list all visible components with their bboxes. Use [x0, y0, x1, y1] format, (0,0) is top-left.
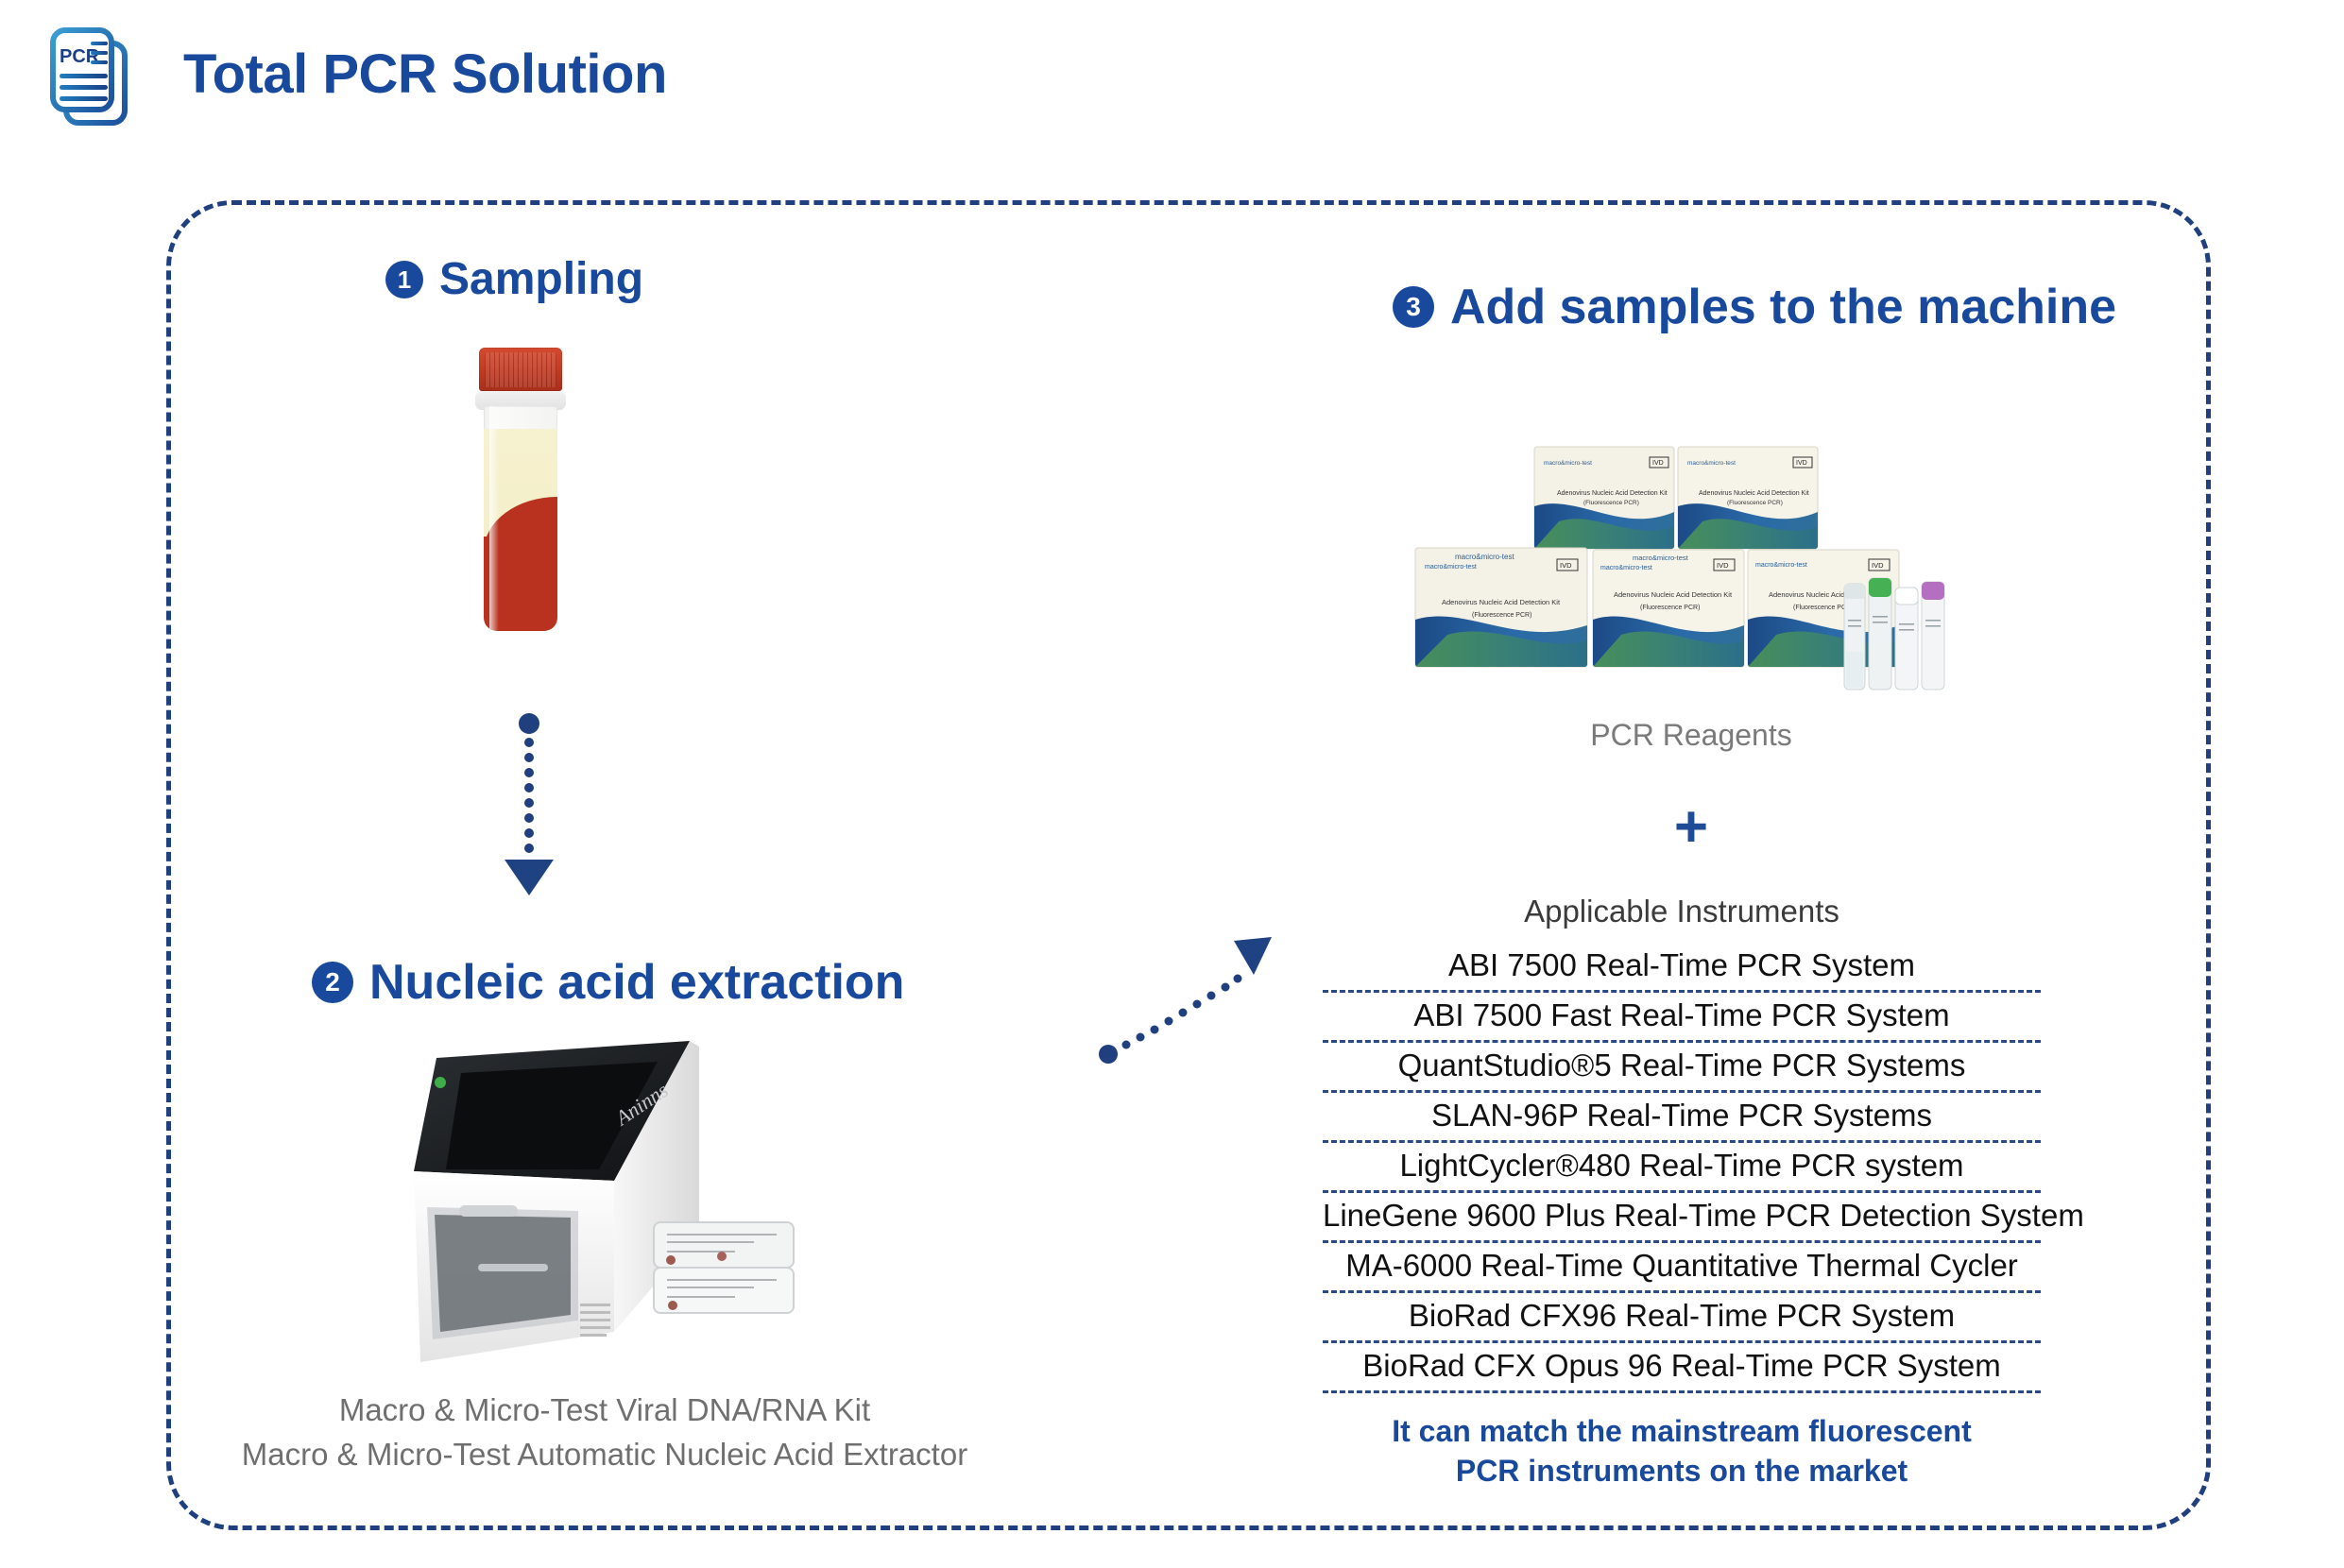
instrument-row: QuantStudio®5 Real-Time PCR Systems: [1323, 1043, 2041, 1093]
svg-text:IVD: IVD: [1560, 561, 1572, 570]
svg-text:Adenovirus Nucleic Acid Detect: Adenovirus Nucleic Acid Detection Kit: [1699, 490, 1809, 497]
tube-gloss-highlight: [489, 406, 499, 631]
instruments-note-line-2: PCR instruments on the market: [1323, 1452, 2041, 1491]
svg-text:(Fluorescence PCR): (Fluorescence PCR): [1472, 612, 1531, 619]
instrument-row: BioRad CFX96 Real-Time PCR System: [1323, 1293, 2041, 1343]
step-2-heading: 2 Nucleic acid extraction: [312, 954, 904, 1011]
instrument-row: ABI 7500 Real-Time PCR System: [1323, 943, 2041, 993]
automatic-nucleic-acid-extractor-icon: Aninns: [378, 1020, 831, 1379]
specimen-collection-tube-icon: [475, 348, 566, 631]
pcr-document-stack-icon: PCR: [38, 21, 151, 127]
instrument-row: LightCycler®480 Real-Time PCR system: [1323, 1143, 2041, 1193]
step-1-heading: 1 Sampling: [385, 253, 643, 305]
instrument-row: ABI 7500 Fast Real-Time PCR System: [1323, 993, 2041, 1043]
applicable-instruments-list: Applicable Instruments ABI 7500 Real-Tim…: [1323, 894, 2041, 1491]
svg-text:macro&micro-test: macro&micro-test: [1600, 565, 1652, 571]
instrument-row: LineGene 9600 Plus Real-Time PCR Detecti…: [1323, 1193, 2041, 1243]
page-title: Total PCR Solution: [183, 43, 667, 106]
svg-text:macro&micro-test: macro&micro-test: [1687, 460, 1736, 467]
svg-text:IVD: IVD: [1872, 561, 1884, 570]
pcr-reagent-kit-boxes-icon: macro&micro-test IVD Adenovirus Nucleic …: [1398, 416, 1984, 699]
tube-body: [484, 406, 557, 631]
step-3-heading: 3 Add samples to the machine: [1393, 279, 2116, 335]
svg-text:macro&micro-test: macro&micro-test: [1633, 554, 1689, 562]
step-2-number-badge: 2: [312, 962, 353, 1003]
step-1-label: Sampling: [439, 253, 643, 305]
step-2-label: Nucleic acid extraction: [369, 954, 904, 1011]
svg-text:macro&micro-test: macro&micro-test: [1425, 564, 1477, 571]
svg-text:Adenovirus Nucleic Acid Detect: Adenovirus Nucleic Acid Detection Kit: [1557, 490, 1668, 497]
extraction-caption-kit: Macro & Micro-Test Viral DNA/RNA Kit: [170, 1389, 1039, 1433]
instrument-row: SLAN-96P Real-Time PCR Systems: [1323, 1093, 2041, 1143]
plus-symbol: +: [1398, 798, 1984, 857]
step-3-label: Add samples to the machine: [1450, 279, 2116, 335]
instruments-title: Applicable Instruments: [1323, 894, 2041, 929]
instruments-note: It can match the mainstream fluorescent …: [1323, 1412, 2041, 1491]
svg-text:(Fluorescence PCR): (Fluorescence PCR): [1640, 605, 1700, 611]
svg-text:macro&micro-test: macro&micro-test: [1755, 562, 1807, 569]
svg-text:macro&micro-test: macro&micro-test: [1544, 460, 1592, 467]
svg-text:IVD: IVD: [1717, 561, 1729, 570]
instrument-row: BioRad CFX Opus 96 Real-Time PCR System: [1323, 1343, 2041, 1393]
dotted-down-arrow-icon: [488, 710, 601, 918]
svg-text:(Fluorescence PCR): (Fluorescence PCR): [1727, 500, 1783, 506]
dotted-diagonal-arrow-icon: [1077, 926, 1285, 1077]
extraction-caption-extractor: Macro & Micro-Test Automatic Nucleic Aci…: [170, 1433, 1039, 1477]
svg-text:IVD: IVD: [1796, 460, 1807, 467]
extraction-captions: Macro & Micro-Test Viral DNA/RNA Kit Mac…: [170, 1389, 1039, 1477]
svg-text:Adenovirus Nucleic Acid Detect: Adenovirus Nucleic Acid Detection Kit: [1442, 598, 1561, 606]
step-1-number-badge: 1: [385, 261, 423, 298]
page-header: PCR Total PCR Solution: [38, 21, 667, 127]
reagents-caption: PCR Reagents: [1398, 718, 1984, 753]
svg-text:Adenovirus Nucleic Acid Detect: Adenovirus Nucleic Acid Detection Kit: [1614, 590, 1733, 599]
step-3-number-badge: 3: [1393, 286, 1434, 328]
instrument-row: MA-6000 Real-Time Quantitative Thermal C…: [1323, 1243, 2041, 1293]
svg-text:macro&micro-test: macro&micro-test: [1455, 553, 1514, 561]
instruments-note-line-1: It can match the mainstream fluorescent: [1323, 1412, 2041, 1452]
tube-cap-ribs: [485, 352, 556, 387]
tube-cap: [479, 348, 562, 391]
svg-text:(Fluorescence PCR): (Fluorescence PCR): [1583, 500, 1639, 506]
svg-text:IVD: IVD: [1652, 460, 1664, 467]
